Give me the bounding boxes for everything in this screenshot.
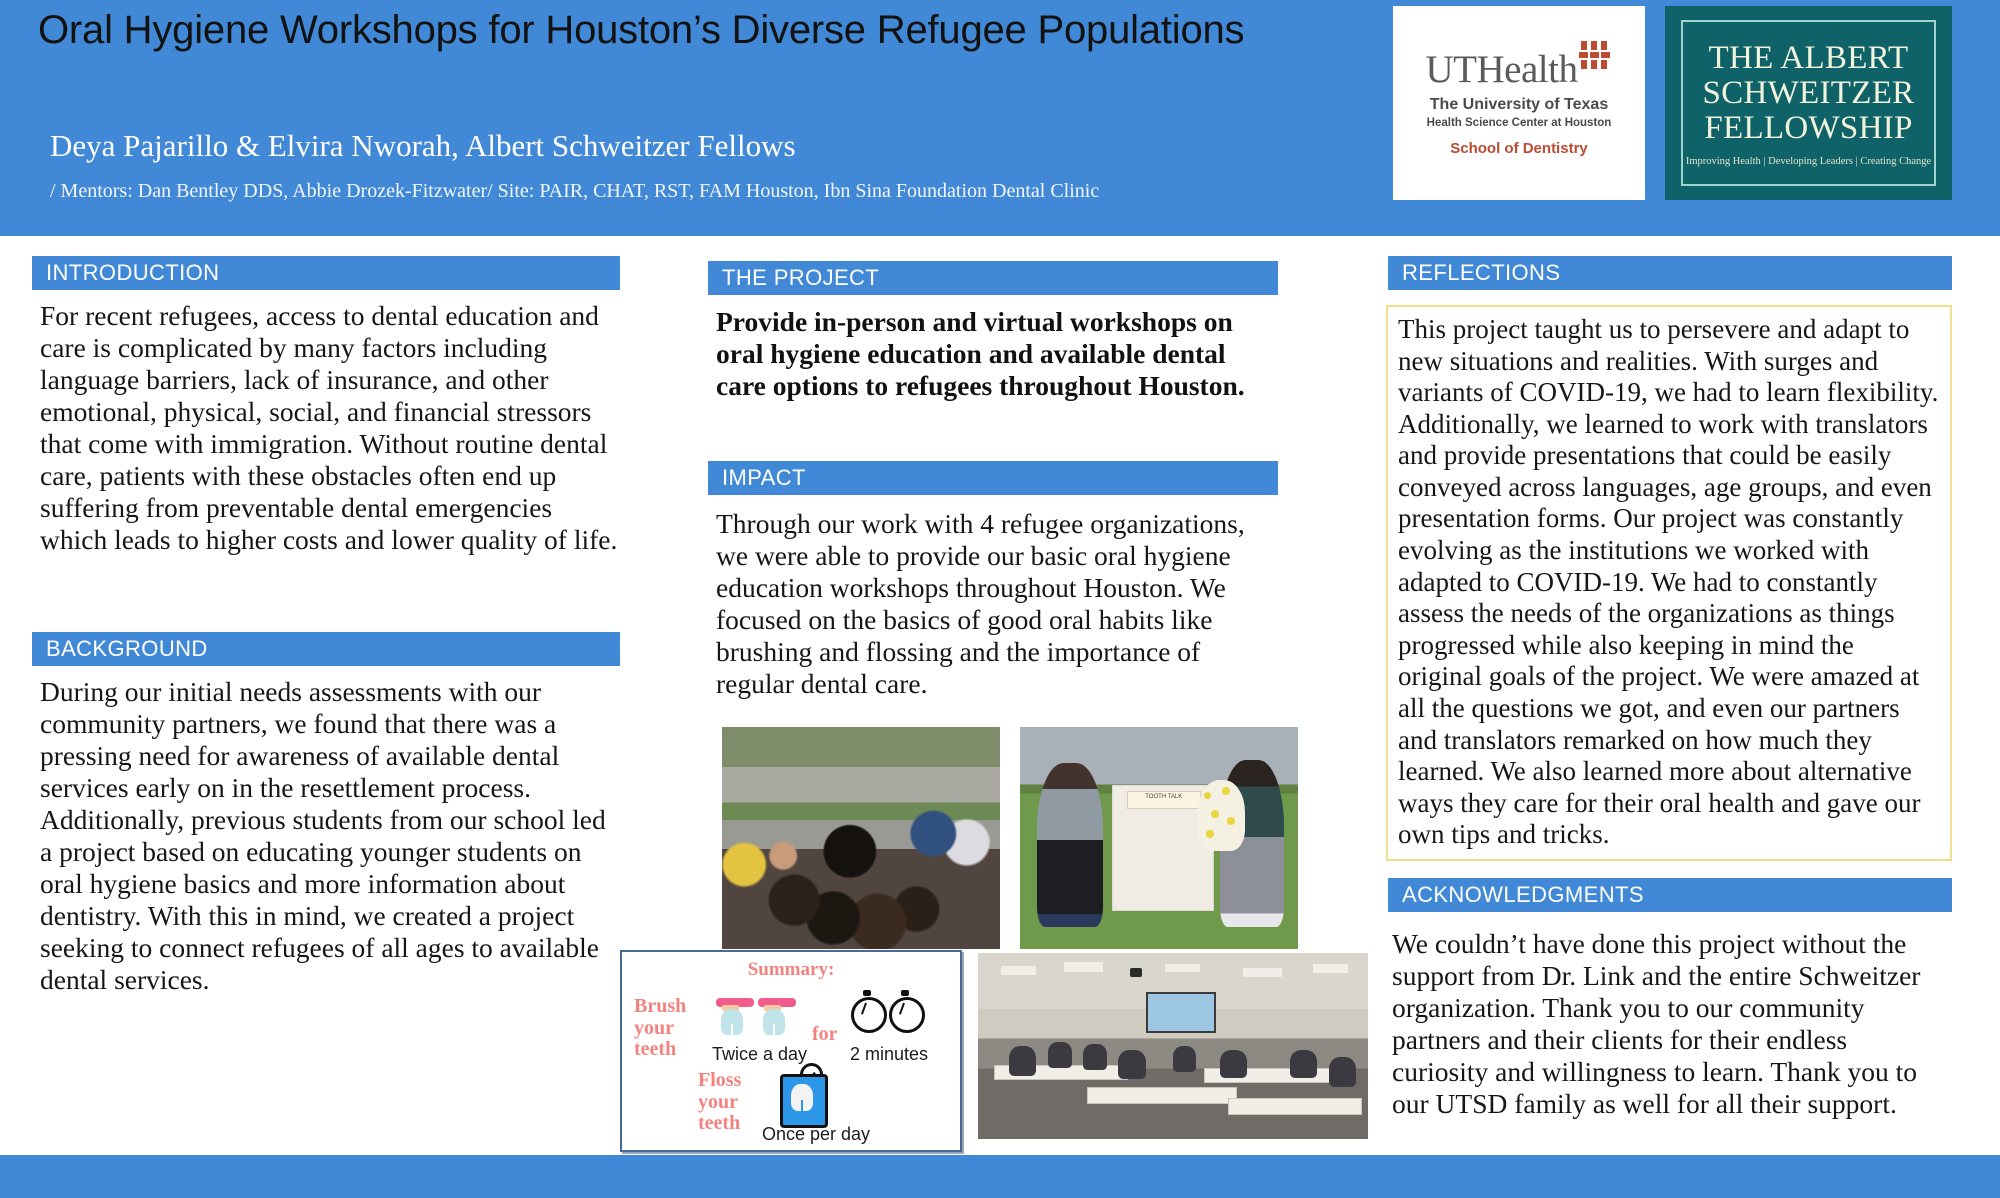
stopwatch-icon-2 xyxy=(888,990,924,1030)
floss-container-icon xyxy=(774,1062,832,1124)
uthealth-school-line: School of Dentistry xyxy=(1450,140,1588,157)
section-header-background: BACKGROUND xyxy=(32,632,620,666)
once-per-day-label: Once per day xyxy=(762,1124,870,1145)
page-title: Oral Hygiene Workshops for Houston’s Div… xyxy=(38,8,1338,53)
poster-footer-bar xyxy=(0,1155,2000,1198)
summary-title: Summary: xyxy=(622,959,960,981)
uthealth-logo: UTHealth The University of Texas Health … xyxy=(1393,6,1645,200)
toothbrush-icon xyxy=(714,992,754,1038)
background-body-text: During our initial needs assessments wit… xyxy=(40,676,620,996)
asf-logo-frame: THE ALBERT SCHWEITZER FELLOWSHIP Improvi… xyxy=(1681,20,1936,186)
asf-line-2: SCHWEITZER xyxy=(1703,76,1915,111)
two-minutes-label: 2 minutes xyxy=(850,1044,928,1065)
uthealth-weave-icon xyxy=(1578,40,1612,74)
toothbrush-icon-2 xyxy=(756,992,796,1038)
project-body-text: Provide in-person and virtual workshops … xyxy=(716,306,1276,403)
acknowledgments-body-text: We couldn’t have done this project witho… xyxy=(1392,928,1948,1120)
asf-tagline: Improving Health | Developing Leaders | … xyxy=(1686,156,1931,167)
summary-infographic: Summary: Brush your teeth Twice a day fo… xyxy=(620,950,962,1152)
section-header-reflections: REFLECTIONS xyxy=(1388,256,1952,290)
introduction-body-text: For recent refugees, access to dental ed… xyxy=(40,300,620,556)
photo-tooth-cutout xyxy=(1198,780,1245,851)
photo-outdoor-workshop-with-children xyxy=(722,727,1000,949)
section-header-the-project: THE PROJECT xyxy=(708,261,1278,295)
mentors-and-sites-line: / Mentors: Dan Bentley DDS, Abbie Drozek… xyxy=(50,180,1099,203)
albert-schweitzer-fellowship-logo: THE ALBERT SCHWEITZER FELLOWSHIP Improvi… xyxy=(1665,6,1952,200)
impact-body-text: Through our work with 4 refugee organiza… xyxy=(716,508,1276,700)
photo-fellows-with-display-board: TOOTH TALK xyxy=(1020,727,1298,949)
authors-line: Deya Pajarillo & Elvira Nworah, Albert S… xyxy=(50,128,796,164)
photo-person-left xyxy=(1037,763,1104,927)
uthealth-center-line: Health Science Center at Houston xyxy=(1427,117,1612,129)
uthealth-wordmark: UTHealth xyxy=(1426,50,1578,89)
photo-board-caption: TOOTH TALK xyxy=(1127,791,1201,809)
brush-your-teeth-label: Brush your teeth xyxy=(634,996,706,1061)
floss-your-teeth-label: Floss your teeth xyxy=(698,1070,764,1135)
uthealth-university-line: The University of Texas xyxy=(1430,96,1608,114)
stopwatch-icon xyxy=(850,990,886,1030)
for-connector-label: for xyxy=(812,1024,838,1046)
section-header-impact: IMPACT xyxy=(708,461,1278,495)
uthealth-wordmark-row: UTHealth xyxy=(1426,50,1613,89)
section-header-acknowledgments: ACKNOWLEDGMENTS xyxy=(1388,878,1952,912)
reflections-body-text: This project taught us to persevere and … xyxy=(1388,307,1950,857)
asf-line-1: THE ALBERT xyxy=(1709,41,1909,76)
reflections-box: This project taught us to persevere and … xyxy=(1386,305,1952,861)
photo-classroom-presentation xyxy=(978,953,1368,1139)
section-header-introduction: INTRODUCTION xyxy=(32,256,620,290)
asf-line-3: FELLOWSHIP xyxy=(1704,111,1912,146)
